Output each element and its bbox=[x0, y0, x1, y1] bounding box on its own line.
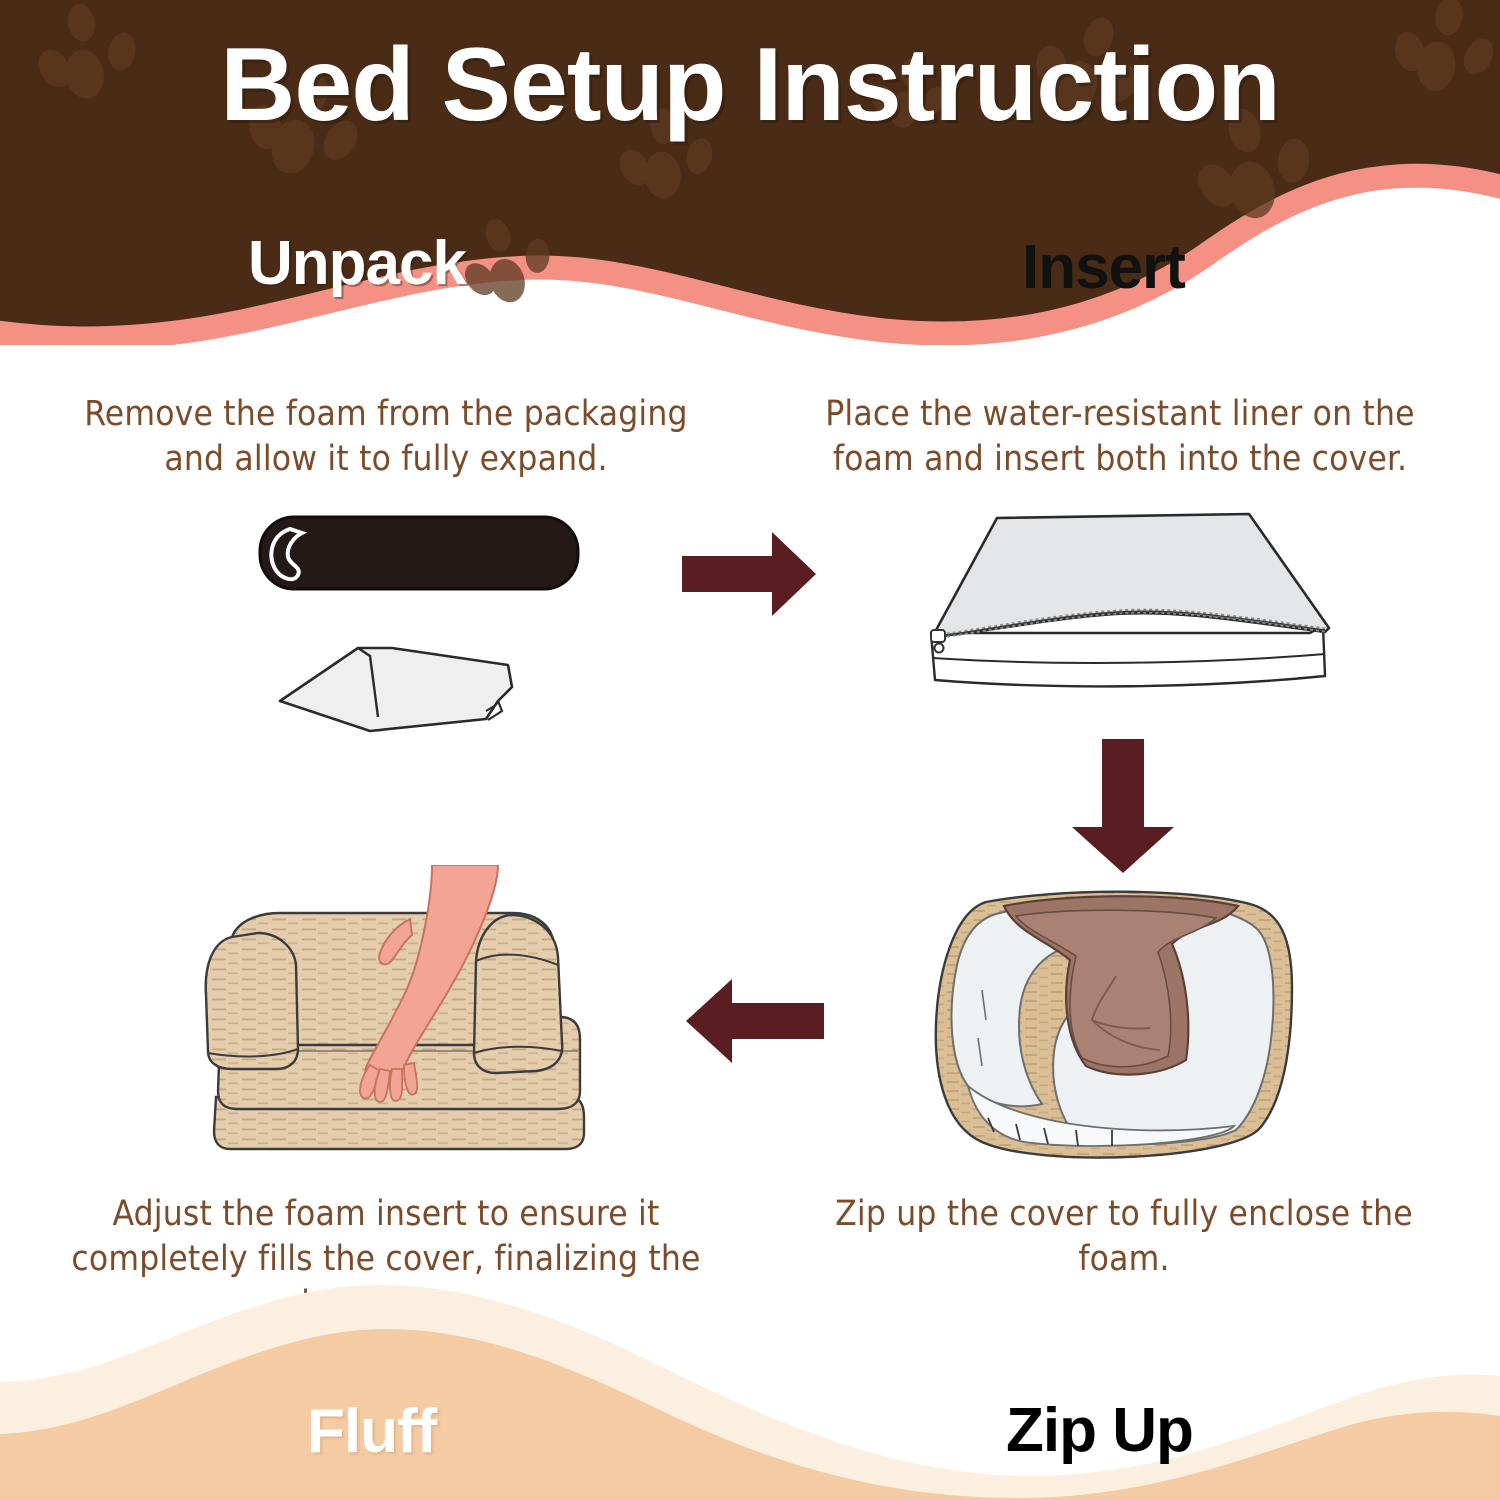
bed-left-bolster-shape bbox=[206, 933, 298, 1069]
illustration-cover-with-foam-inside bbox=[920, 880, 1320, 1180]
rolled-foam-icon bbox=[260, 517, 578, 589]
folded-liner-icon bbox=[280, 648, 512, 731]
step-description-insert: Place the water-resistant liner on the f… bbox=[790, 392, 1450, 482]
step-label-zipup: Zip Up bbox=[1006, 1395, 1193, 1466]
arrow-right-icon bbox=[678, 528, 820, 620]
step-label-unpack: Unpack bbox=[248, 228, 466, 299]
illustration-foam-with-liner-zipper bbox=[905, 500, 1335, 690]
header-banner: Bed Setup Instruction bbox=[0, 0, 1500, 345]
step-description-zipup: Zip up the cover to fully enclose the fo… bbox=[800, 1192, 1448, 1282]
illustration-hand-pressing-bed bbox=[180, 865, 610, 1185]
step-label-fluff: Fluff bbox=[307, 1396, 436, 1467]
bed-right-bolster-shape bbox=[474, 915, 562, 1073]
arrow-down-icon bbox=[1058, 735, 1188, 877]
step-label-insert: Insert bbox=[1022, 232, 1185, 303]
step-description-unpack: Remove the foam from the packaging and a… bbox=[62, 392, 710, 482]
footer-banner bbox=[0, 1270, 1500, 1500]
illustration-rolled-foam-and-liner bbox=[250, 505, 610, 745]
page-title: Bed Setup Instruction bbox=[0, 26, 1500, 145]
arrow-left-icon bbox=[676, 975, 828, 1067]
footer-wave-graphic bbox=[0, 1270, 1500, 1500]
